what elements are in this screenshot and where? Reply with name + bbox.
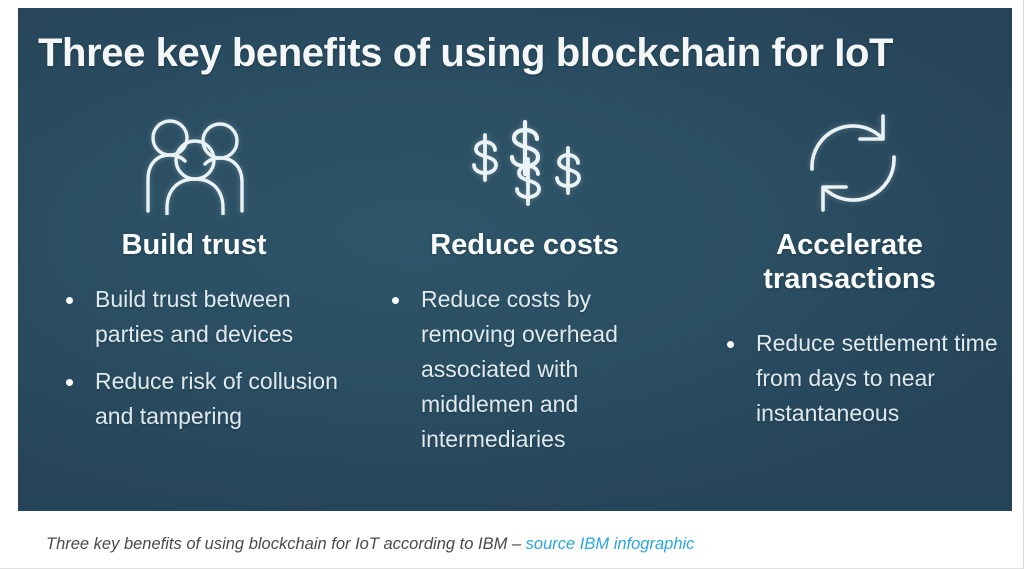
three-people-icon [32, 104, 362, 222]
benefit-heading: Build trust [32, 228, 362, 262]
caption-text: Three key benefits of using blockchain f… [46, 535, 526, 553]
bullet-text: Reduce risk of collusion and tampering [95, 368, 338, 429]
benefit-heading: Reduce costs [362, 228, 687, 262]
bullet-dot-icon [392, 297, 399, 304]
bullet-text: Reduce costs by removing overhead associ… [421, 286, 618, 452]
benefit-column-accelerate-transactions: Accelerate transactions Reduce settlemen… [687, 104, 1012, 504]
list-item: Build trust between parties and devices [66, 282, 356, 352]
list-item: Reduce risk of collusion and tampering [66, 364, 356, 434]
infographic-panel: Three key benefits of using blockchain f… [18, 8, 1012, 511]
list-item: Reduce settlement time from days to near… [727, 326, 1006, 431]
bullet-text: Build trust between parties and devices [95, 286, 293, 347]
page-root: Three key benefits of using blockchain f… [0, 0, 1024, 569]
infographic-headline: Three key benefits of using blockchain f… [38, 30, 992, 76]
bullet-text: Reduce settlement time from days to near… [756, 330, 998, 426]
benefit-columns: Build trust Build trust between parties … [18, 104, 1012, 504]
bullet-dot-icon [66, 379, 73, 386]
circular-arrows-refresh-icon [687, 104, 1012, 222]
benefit-bullet-list: Build trust between parties and devices … [32, 282, 362, 434]
benefit-column-build-trust: Build trust Build trust between parties … [18, 104, 362, 504]
benefit-heading: Accelerate transactions [687, 228, 1012, 296]
benefit-column-reduce-costs: Reduce costs Reduce costs by removing ov… [362, 104, 687, 504]
source-link[interactable]: source IBM infographic [526, 535, 695, 553]
bullet-dot-icon [66, 297, 73, 304]
figure-caption: Three key benefits of using blockchain f… [46, 532, 986, 556]
dollar-signs-icon [362, 104, 687, 222]
benefit-bullet-list: Reduce costs by removing overhead associ… [362, 282, 687, 457]
benefit-bullet-list: Reduce settlement time from days to near… [687, 326, 1012, 431]
bullet-dot-icon [727, 341, 734, 348]
list-item: Reduce costs by removing overhead associ… [392, 282, 681, 457]
